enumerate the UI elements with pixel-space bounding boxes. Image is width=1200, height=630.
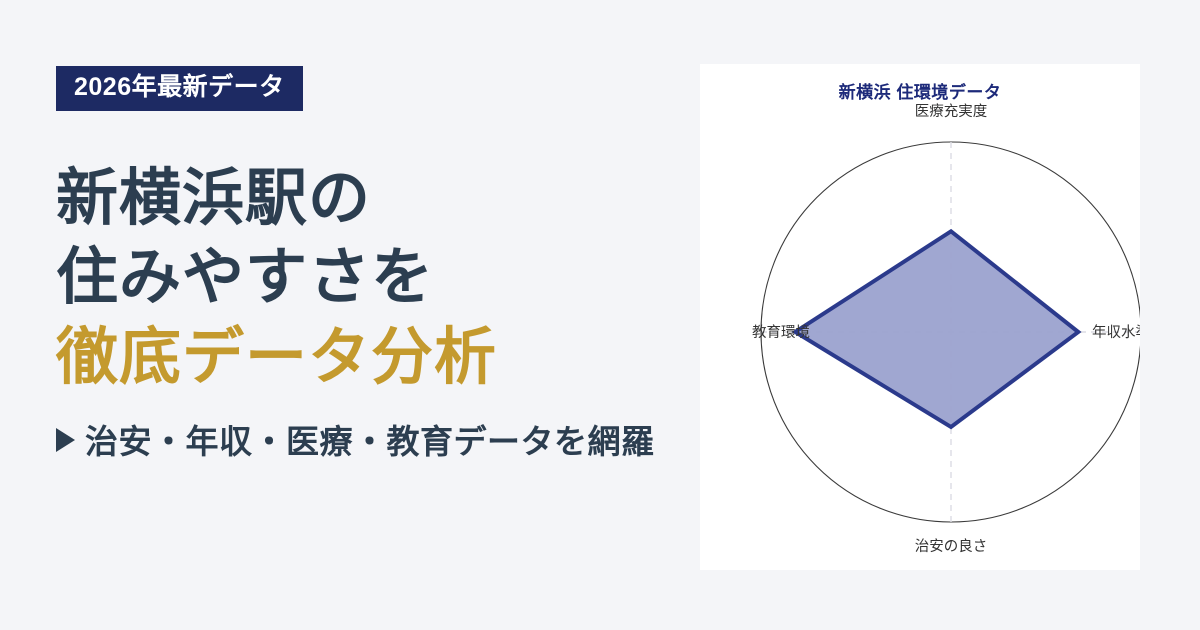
hero-subtitle: 治安・年収・医療・教育データを網羅 bbox=[56, 415, 696, 463]
radar-label-bottom: 治安の良さ bbox=[915, 538, 988, 555]
headline-line-2: 住みやすさを bbox=[56, 238, 696, 317]
radar-chart-svg: 医療充実度 年収水準 治安の良さ 教育環境 bbox=[700, 64, 1140, 570]
headline-line-3-accent: 徹底データ分析 bbox=[56, 318, 696, 397]
headline-line-1: 新横浜駅の bbox=[56, 159, 696, 238]
latest-data-badge: 2026年最新データ bbox=[56, 66, 303, 111]
radar-label-right: 年収水準 bbox=[1092, 324, 1140, 341]
radar-label-top: 医療充実度 bbox=[915, 103, 988, 120]
hero-subtitle-label: 治安・年収・医療・教育データを網羅 bbox=[85, 415, 655, 463]
radar-chart-card: 新横浜 住環境データ 医療充実度 年収水準 治安の良さ 教育環境 bbox=[700, 64, 1140, 570]
hero-text-column: 2026年最新データ 新横浜駅の 住みやすさを 徹底データ分析 治安・年収・医療… bbox=[56, 66, 696, 463]
radar-label-left: 教育環境 bbox=[752, 323, 810, 341]
page-root: 2026年最新データ 新横浜駅の 住みやすさを 徹底データ分析 治安・年収・医療… bbox=[0, 0, 1200, 630]
radar-data-polygon bbox=[795, 231, 1078, 427]
triangle-right-icon bbox=[56, 428, 75, 452]
page-title: 新横浜駅の 住みやすさを 徹底データ分析 bbox=[56, 159, 696, 397]
